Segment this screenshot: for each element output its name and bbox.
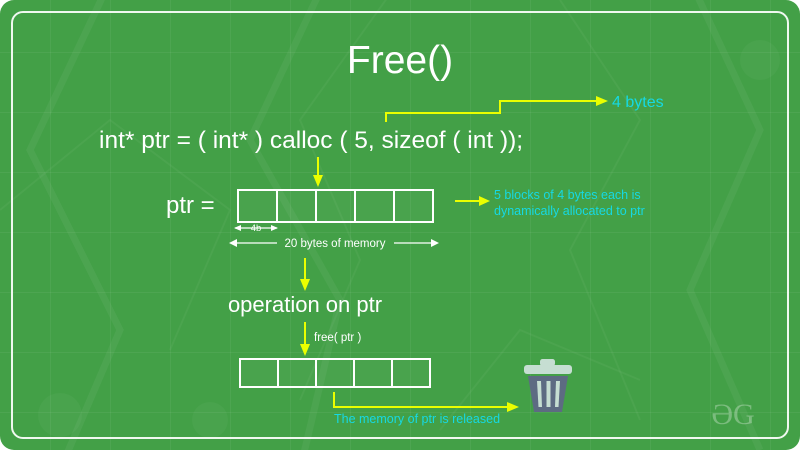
ptr-memory-blocks (238, 190, 433, 222)
released-arrow-path (334, 392, 508, 407)
memory-cell (277, 190, 316, 222)
memory-cell (392, 359, 430, 387)
ptr-to-operation-arrow (300, 258, 310, 291)
code-to-ptr-arrowhead (313, 175, 323, 187)
memory-cell (316, 190, 355, 222)
four-bytes-callout (386, 96, 608, 122)
memory-cell (316, 359, 354, 387)
measure-arrow-right (271, 225, 278, 231)
geeksforgeeks-logo: ƏG (711, 398, 754, 431)
ptr-row-label: ptr = (166, 192, 215, 219)
blocks-note-line2: dynamically allocated to ptr (494, 204, 645, 218)
trash-icon (524, 359, 572, 412)
operation-to-freed-arrowhead (300, 344, 310, 356)
memory-cell (238, 190, 277, 222)
measure-arrow-left (229, 239, 237, 247)
blocks-note-arrowhead (479, 196, 490, 206)
free-call-label: free( ptr ) (314, 332, 361, 344)
four-bytes-arrowhead (596, 96, 608, 106)
freed-memory-blocks (240, 359, 430, 387)
released-note: The memory of ptr is released (334, 412, 500, 426)
measure-arrow-left (234, 225, 241, 231)
code-line: int* ptr = ( int* ) calloc ( 5, sizeof (… (99, 127, 523, 154)
free-function-diagram: Free() 4 bytes int* ptr = ( int* ) callo… (0, 0, 800, 450)
four-bytes-label: 4 bytes (612, 94, 664, 111)
operation-label: operation on ptr (228, 292, 382, 317)
memory-cell (240, 359, 278, 387)
operation-to-freed-arrow (300, 322, 310, 356)
slide-canvas: Free() 4 bytes int* ptr = ( int* ) callo… (0, 0, 800, 450)
four-bytes-bracket (386, 101, 596, 122)
blocks-note-arrow (455, 196, 490, 206)
memory-cell (394, 190, 433, 222)
code-to-ptr-arrow (313, 157, 323, 187)
blocks-note-line1: 5 blocks of 4 bytes each is (494, 188, 641, 202)
ptr-to-operation-arrowhead (300, 279, 310, 291)
released-arrowhead (507, 402, 519, 412)
memory-cell (355, 190, 394, 222)
page-title: Free() (347, 39, 453, 82)
memory-cell (354, 359, 392, 387)
total-width-label: 20 bytes of memory (285, 238, 386, 250)
measure-arrow-right (431, 239, 439, 247)
released-arrow (334, 392, 519, 412)
cell-width-label: 4b (251, 223, 262, 234)
memory-cell (278, 359, 316, 387)
